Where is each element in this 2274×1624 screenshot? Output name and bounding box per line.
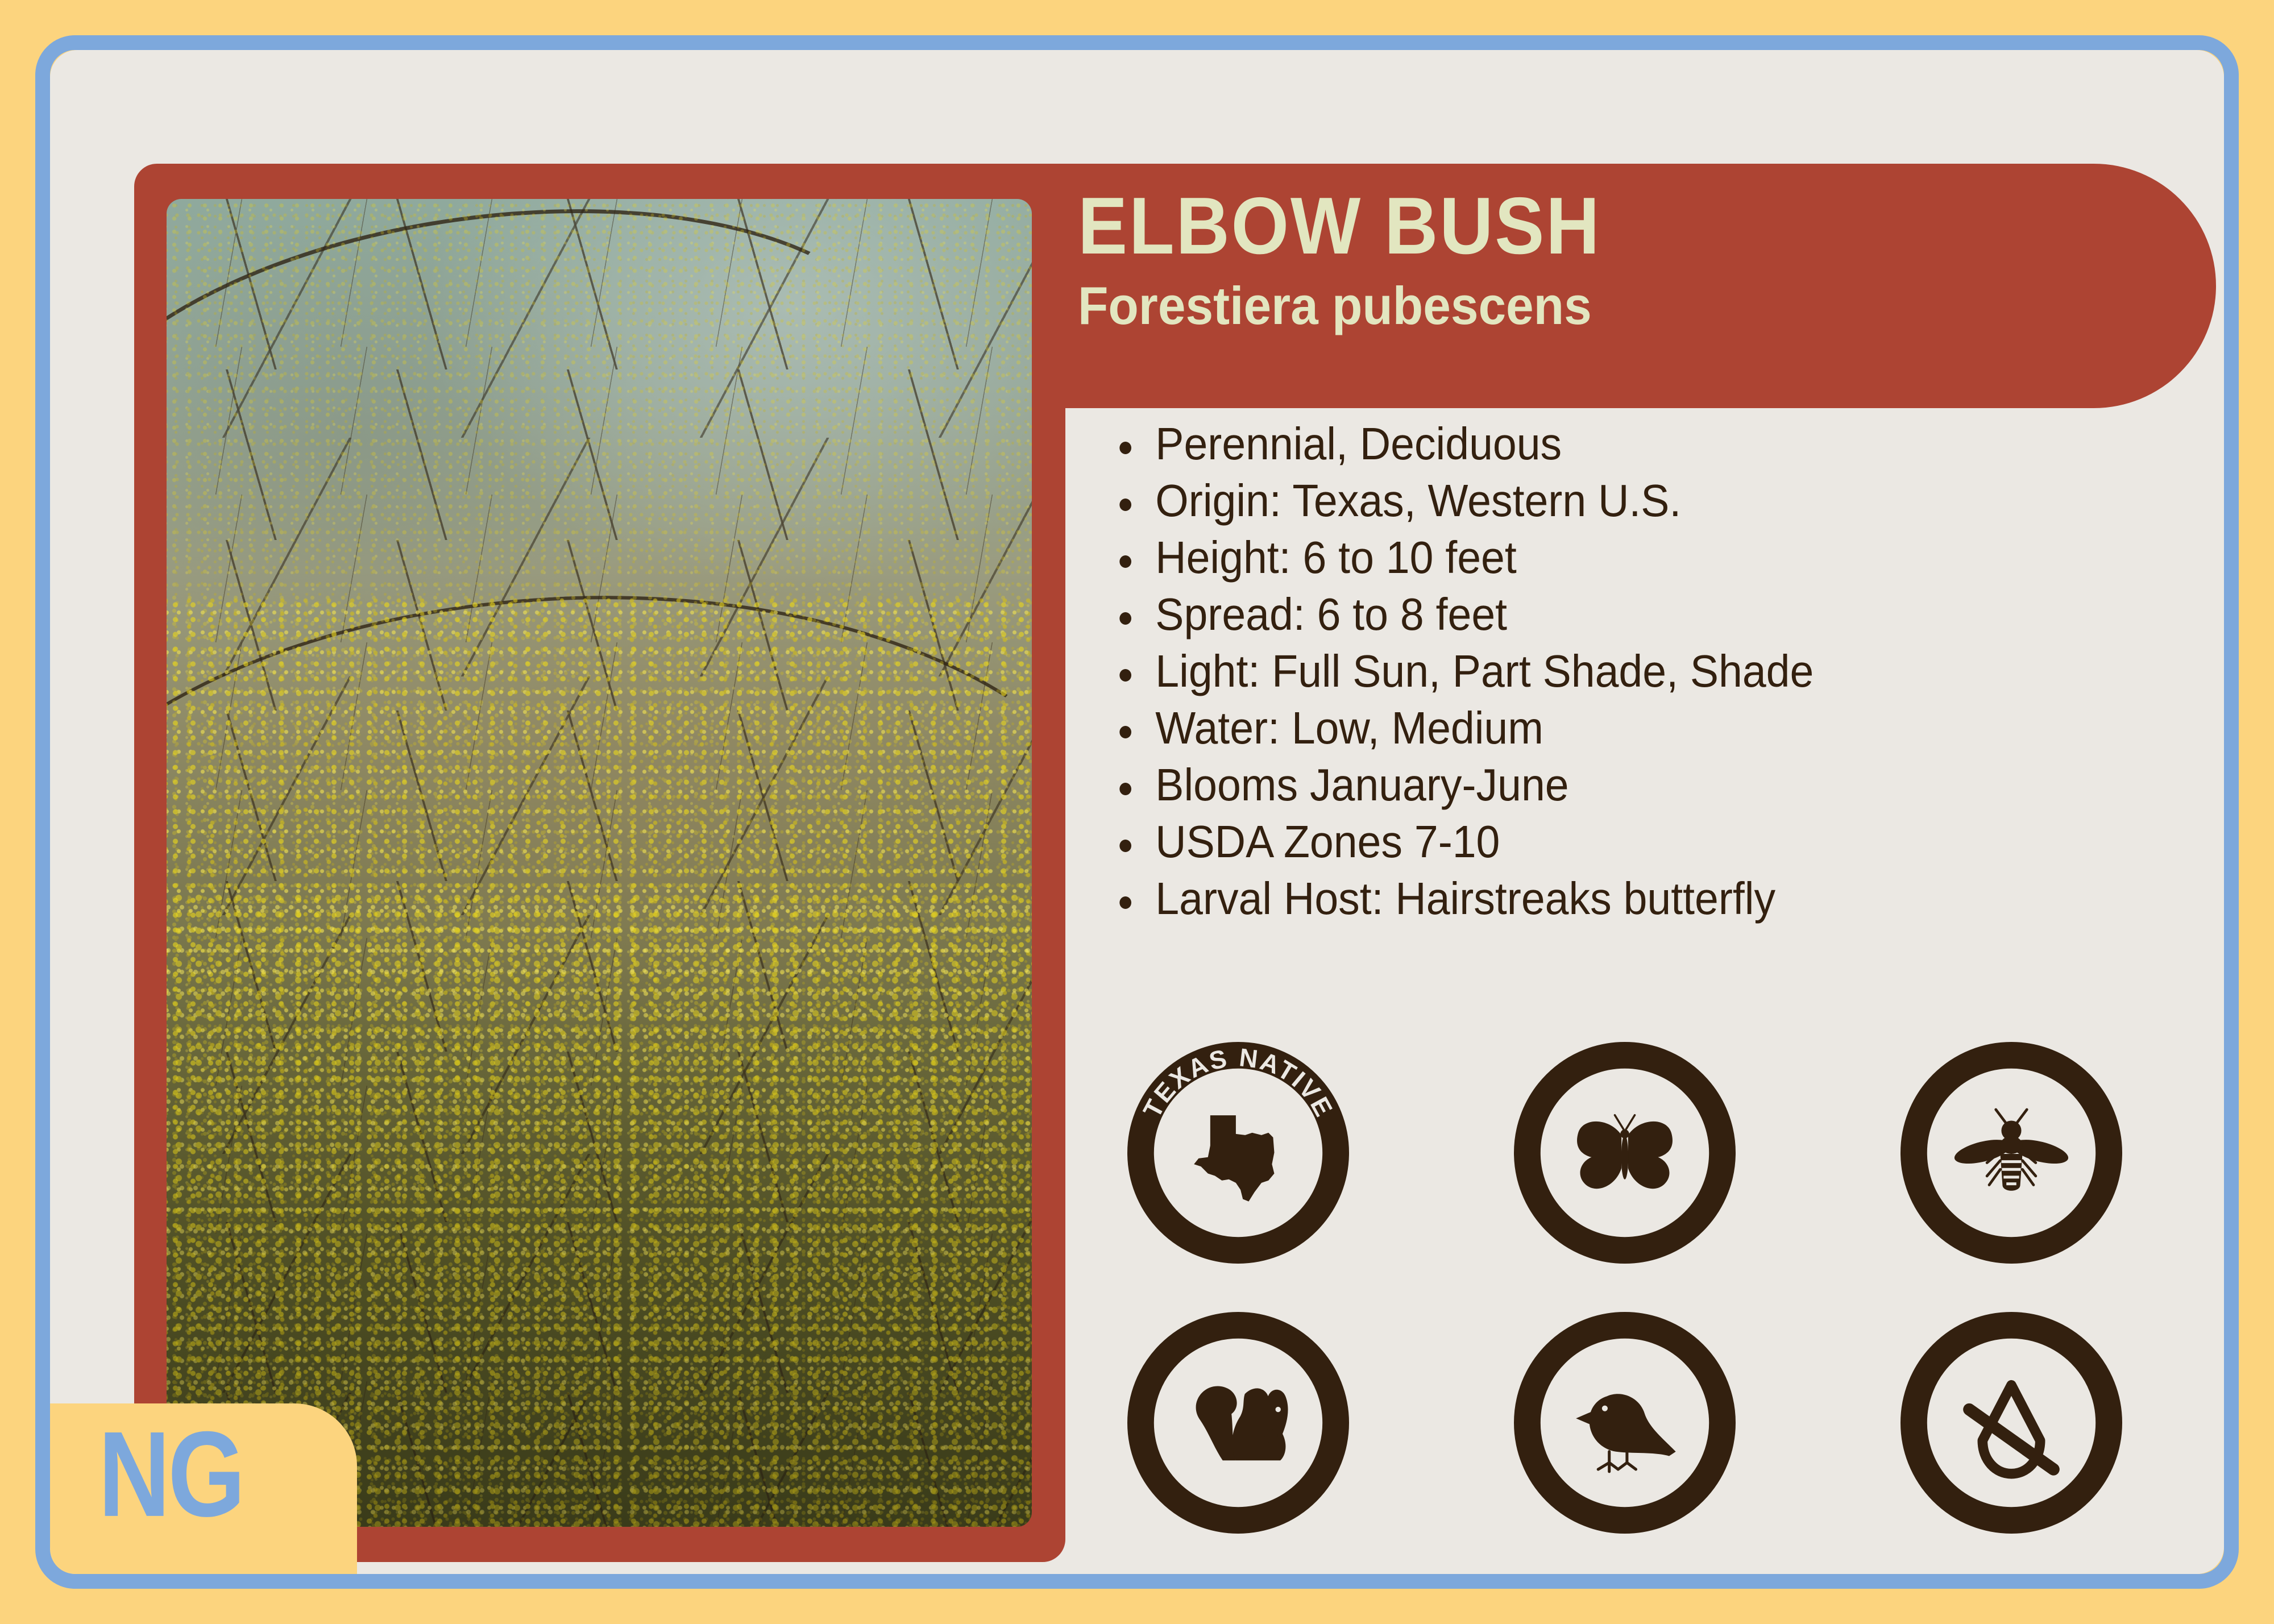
plant-facts-list: Perennial, Deciduous Origin: Texas, West… bbox=[1105, 417, 2219, 928]
badge-wildlife-friendly: WILDLIFE FRIENDLY bbox=[1127, 1312, 1349, 1534]
texas-state-icon bbox=[1194, 1115, 1274, 1202]
plant-scientific-name: Forestiera pubescens bbox=[1078, 278, 2082, 334]
bird-icon bbox=[1576, 1394, 1676, 1472]
list-item: Origin: Texas, Western U.S. bbox=[1105, 474, 2152, 528]
list-item: Blooms January-June bbox=[1105, 758, 2152, 812]
plant-info-card: ELBOW BUSH Forestiera pubescens Perennia… bbox=[50, 50, 2224, 1574]
ng-logo-badge: NG bbox=[50, 1403, 357, 1574]
plant-photo bbox=[167, 199, 1032, 1527]
squirrel-icon bbox=[1196, 1386, 1288, 1460]
list-item: Spread: 6 to 8 feet bbox=[1105, 587, 2152, 642]
list-item: USDA Zones 7-10 bbox=[1105, 815, 2152, 869]
ng-logo-text: NG bbox=[98, 1414, 243, 1536]
photo-vignette bbox=[167, 199, 1032, 1527]
bee-icon bbox=[1952, 1110, 2070, 1191]
badge-butterfly-larval-host: BUTTERFLY LARVAL HOST bbox=[1514, 1042, 1736, 1264]
badge-attracts-birds: ATTRACTS BIRDS bbox=[1514, 1312, 1736, 1534]
list-item: Height: 6 to 10 feet bbox=[1105, 530, 2152, 585]
no-water-drop-icon bbox=[1969, 1385, 2053, 1474]
badge-pollinator-friendly: POLLINATOR FRIENDLY bbox=[1900, 1042, 2122, 1264]
badge-drought-tolerant: DROUGHT TOLERANT bbox=[1900, 1312, 2122, 1534]
plant-common-name: ELBOW BUSH bbox=[1078, 185, 2072, 268]
list-item: Water: Low, Medium bbox=[1105, 701, 2152, 755]
butterfly-icon bbox=[1577, 1115, 1673, 1189]
badge-texas-native: TEXAS NATIVE bbox=[1127, 1042, 1349, 1264]
list-item: Light: Full Sun, Part Shade, Shade bbox=[1105, 644, 2152, 699]
attribute-badges: TEXAS NATIVE BUTTERFLY LARVAL HOST bbox=[1127, 1042, 2173, 1536]
list-item: Larval Host: Hairstreaks butterfly bbox=[1105, 871, 2152, 926]
list-item: Perennial, Deciduous bbox=[1105, 417, 2152, 471]
title-block: ELBOW BUSH Forestiera pubescens bbox=[1078, 185, 2158, 334]
